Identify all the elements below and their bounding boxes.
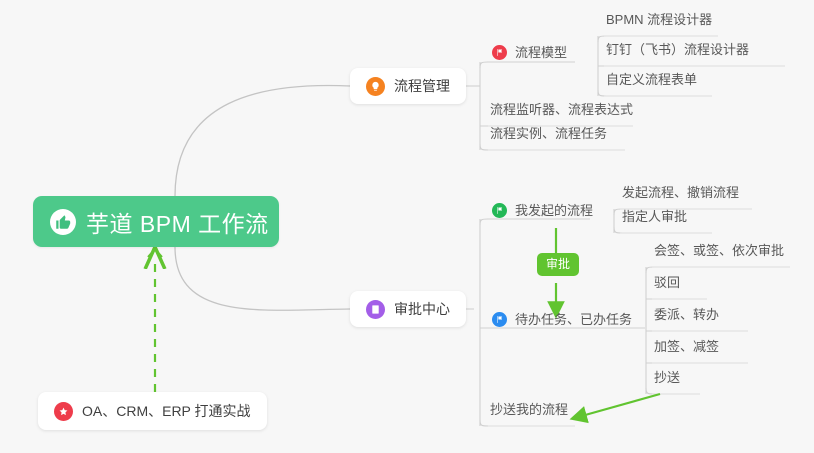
node-delegate-transfer[interactable]: 委派、转办 [654, 306, 719, 327]
node-label: 我发起的流程 [515, 202, 593, 219]
node-label: 审批中心 [394, 299, 450, 319]
node-label: 流程模型 [515, 44, 567, 61]
lightbulb-icon [366, 77, 385, 96]
node-process-instance-task[interactable]: 流程实例、流程任务 [490, 125, 607, 146]
node-process-listener-expression[interactable]: 流程监听器、流程表达式 [490, 101, 633, 122]
node-assignee-approval[interactable]: 指定人审批 [622, 208, 687, 229]
node-dingtalk-feishu-designer[interactable]: 钉钉（飞书）流程设计器 [606, 41, 749, 62]
node-label: 流程监听器、流程表达式 [490, 102, 633, 117]
clipboard-icon [366, 300, 385, 319]
approval-badge[interactable]: 审批 [537, 253, 579, 276]
node-process-management[interactable]: 流程管理 [350, 68, 466, 104]
node-todo-done-tasks[interactable]: 待办任务、已办任务 [492, 311, 632, 332]
star-icon [54, 402, 73, 421]
edge-to-countersign [646, 267, 790, 273]
node-carbon-copy[interactable]: 抄送 [654, 369, 680, 390]
edge-root-to-process-management [175, 85, 350, 196]
node-label: 驳回 [654, 275, 680, 290]
node-label: 自定义流程表单 [606, 72, 697, 87]
node-label: BPMN 流程设计器 [606, 12, 712, 27]
flag-icon [492, 45, 507, 60]
flag-icon [492, 312, 507, 327]
node-label: 会签、或签、依次审批 [654, 243, 784, 258]
arrowhead-callout-to-root [148, 249, 162, 257]
node-label: 加签、减签 [654, 339, 719, 354]
node-approval-center[interactable]: 审批中心 [350, 291, 466, 327]
node-process-model[interactable]: 流程模型 [492, 44, 567, 65]
node-oa-crm-erp[interactable]: OA、CRM、ERP 打通实战 [38, 392, 267, 430]
node-bpmn-designer[interactable]: BPMN 流程设计器 [606, 11, 712, 32]
node-label: 抄送我的流程 [490, 402, 568, 417]
node-label: 钉钉（飞书）流程设计器 [606, 42, 749, 57]
node-label: 发起流程、撤销流程 [622, 185, 739, 200]
root-node[interactable]: 芋道 BPM 工作流 [33, 196, 279, 247]
thumbs-up-icon [50, 209, 76, 235]
node-cc-my-process[interactable]: 抄送我的流程 [490, 401, 568, 422]
edge-root-to-approval-center [175, 247, 350, 310]
node-label: OA、CRM、ERP 打通实战 [82, 401, 251, 421]
leaf-underlines [488, 36, 790, 426]
flag-icon [492, 203, 507, 218]
node-my-initiated-process[interactable]: 我发起的流程 [492, 202, 593, 223]
node-reject[interactable]: 驳回 [654, 274, 680, 295]
node-label: 抄送 [654, 370, 680, 385]
root-label: 芋道 BPM 工作流 [86, 205, 269, 239]
node-start-cancel-process[interactable]: 发起流程、撤销流程 [622, 184, 739, 205]
node-label: 流程管理 [394, 76, 450, 96]
approval-badge-label: 审批 [546, 257, 570, 271]
node-countersign-or-sign-sequential[interactable]: 会签、或签、依次审批 [654, 242, 784, 263]
node-label: 指定人审批 [622, 209, 687, 224]
node-label: 待办任务、已办任务 [515, 311, 632, 328]
node-label: 流程实例、流程任务 [490, 126, 607, 141]
node-custom-process-form[interactable]: 自定义流程表单 [606, 71, 697, 92]
mindmap-canvas: 芋道 BPM 工作流 流程管理 审批中心 流程模型 BPMN 流程设计器 钉 [0, 0, 814, 453]
node-label: 委派、转办 [654, 307, 719, 322]
highlight-edge-cc-to-ccmine [578, 394, 660, 417]
node-add-remove-sign[interactable]: 加签、减签 [654, 338, 719, 359]
